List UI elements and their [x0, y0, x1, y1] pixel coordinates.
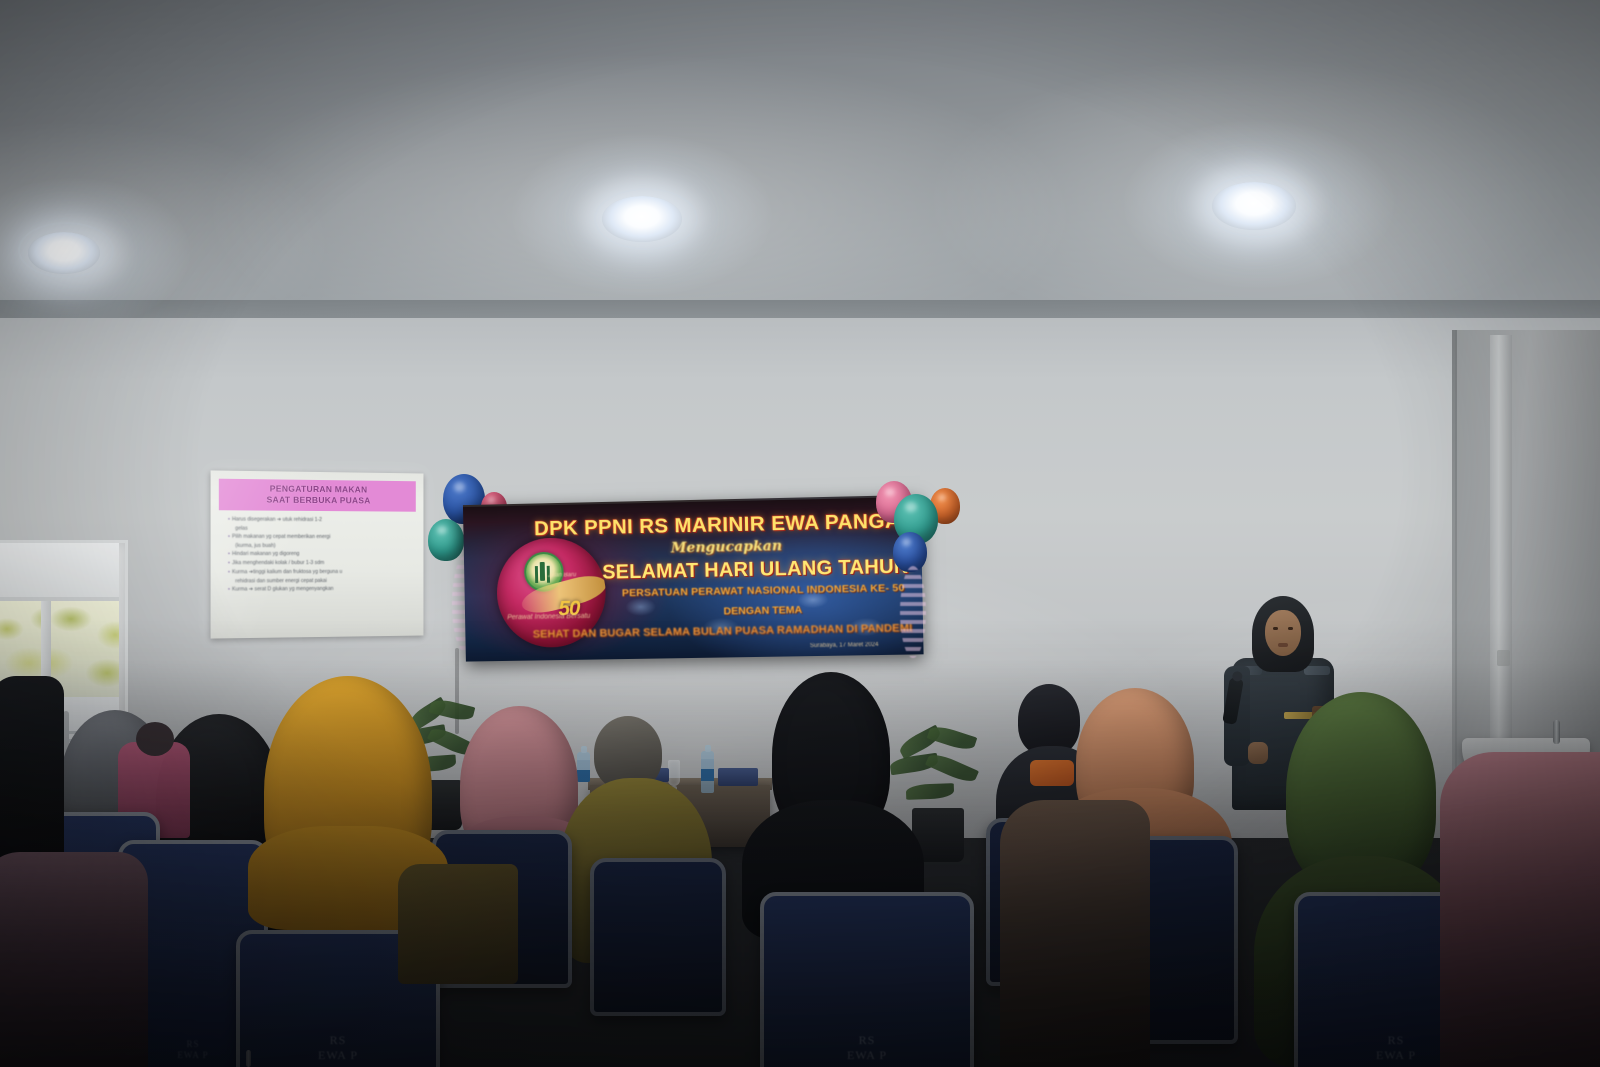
attendee-far-right-edge — [1440, 752, 1600, 1067]
ribbon-curl-right — [900, 566, 926, 658]
chair-leg — [246, 1050, 251, 1067]
attendee-foreground-right-body — [1000, 800, 1150, 1067]
attendee-foreground-left-body — [0, 852, 148, 1067]
projection-screen: PENGATURAN MAKAN SAAT BERBUKA PUASA Haru… — [211, 470, 424, 638]
door-jamb-right — [1490, 335, 1512, 795]
slide-title-line2: SAAT BERBUKA PUASA — [221, 494, 414, 507]
wall-socket — [1497, 650, 1510, 666]
water-bottle — [701, 751, 714, 793]
speaker-hand — [1248, 742, 1268, 764]
presentation-slide: PENGATURAN MAKAN SAAT BERBUKA PUASA Haru… — [219, 479, 416, 631]
slide-bullet: Hindari makanan yg digoreng — [228, 551, 416, 559]
palm-frond — [925, 750, 979, 786]
attendee-background-head — [136, 722, 174, 756]
speaker-face — [1265, 610, 1301, 656]
attendee-foreground-left-silhouette — [0, 676, 64, 876]
slide-bullet: Kurma ➔ serat D glukan yg mengenyangkan — [228, 586, 416, 595]
slide-bullet: Pilih makanan yg cepat memberikan energi — [228, 533, 416, 541]
attendee-orange-collar — [1030, 760, 1074, 786]
chair-label: RSEWA P — [240, 1033, 436, 1063]
banner-headline: DPK PPNI RS MARINIR EWA PANGALILA — [534, 509, 907, 541]
logo-script-bottom: Perawat Indonesia Bersatu — [507, 613, 594, 621]
chair-center[interactable]: RSEWA P — [760, 892, 974, 1067]
water-bottle — [577, 752, 590, 782]
slide-bullet: Jika menghendaki kolak / bubur 1-3 sdm — [228, 560, 416, 568]
drinking-glass — [668, 760, 680, 786]
epaulet-right — [1304, 666, 1330, 675]
palm-frond — [429, 697, 476, 723]
document-tray — [718, 768, 758, 786]
door-transom — [0, 543, 119, 601]
palm-frond — [906, 783, 954, 800]
slide-title: PENGATURAN MAKAN SAAT BERBUKA PUASA — [219, 479, 416, 512]
slide-bullet: Kurma ➔tinggi kalium dan fruktosa yg ber… — [228, 569, 416, 577]
anniversary-banner: Jalan Baru 50 Perawat Indonesia Bersatu … — [463, 495, 924, 662]
slide-bullet-list: Harus disegerakan ➔ utuk rehidrasi 1-2 g… — [219, 516, 416, 594]
chair-label: RSEWA P — [764, 1033, 970, 1063]
balloon-teal — [428, 519, 464, 561]
photo-scene: PENGATURAN MAKAN SAAT BERBUKA PUASA Haru… — [0, 0, 1600, 1067]
attendee-batik-shoulder-right — [398, 864, 518, 984]
faucet-icon — [1553, 720, 1560, 744]
slide-bullet: Harus disegerakan ➔ utuk rehidrasi 1-2 — [228, 516, 416, 525]
logo-script-top: Jalan Baru — [548, 572, 607, 579]
banner-script-text: Mengucapkan — [612, 537, 843, 558]
banner-greeting: SELAMAT HARI ULANG TAHUN — [602, 555, 924, 585]
chair-row2-mid[interactable] — [590, 858, 726, 1016]
slide-subline: (kurma, jus buah) — [228, 543, 416, 551]
wall-corner-edge — [1452, 330, 1457, 800]
right-wall-panel — [1455, 330, 1600, 800]
